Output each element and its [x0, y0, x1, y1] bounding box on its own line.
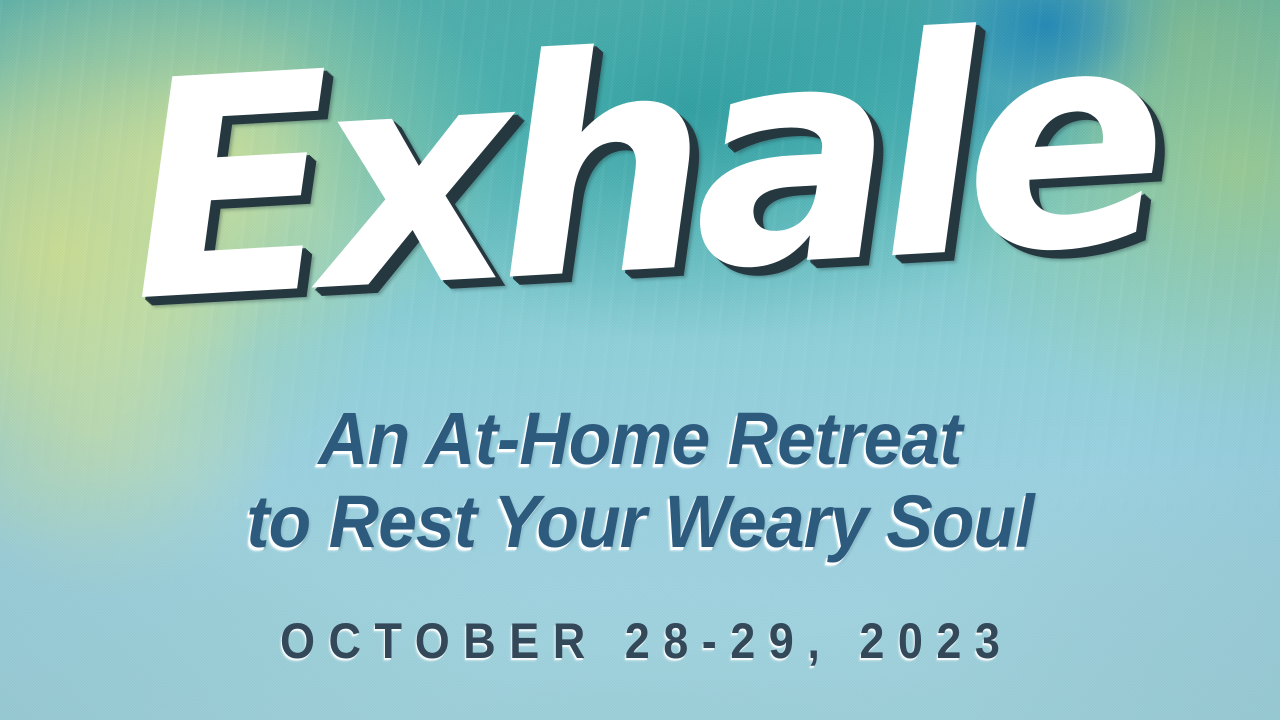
event-promo-poster: Exhale An At-Home Retreat to Rest Your W… — [0, 0, 1280, 720]
subtitle-line-1: An At-Home Retreat — [38, 398, 1241, 481]
poster-content: Exhale An At-Home Retreat to Rest Your W… — [0, 0, 1280, 720]
event-date: OCTOBER 28-29, 2023 — [64, 612, 1216, 670]
subtitle-block: An At-Home Retreat to Rest Your Weary So… — [38, 398, 1241, 564]
subtitle-line-2: to Rest Your Weary Soul — [38, 481, 1241, 564]
script-title-exhale: Exhale — [0, 0, 1280, 351]
